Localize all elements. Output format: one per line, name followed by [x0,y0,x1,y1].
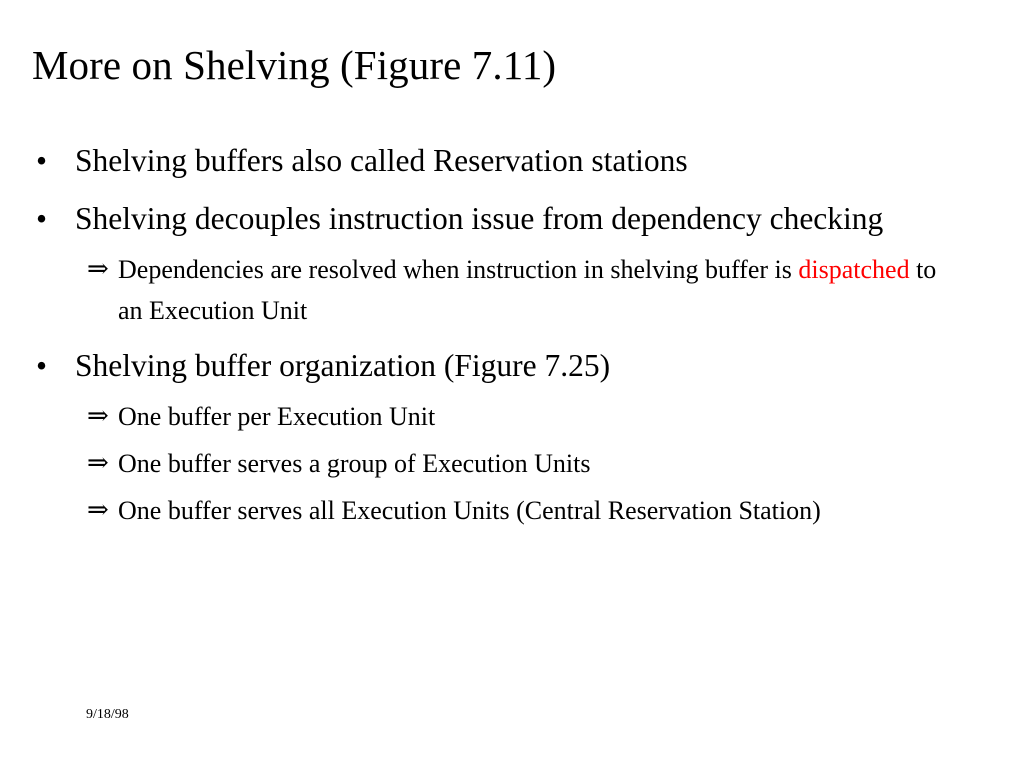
highlighted-term-dispatched: dispatched [798,255,909,284]
arrow-right-double-icon: ⇒ [87,490,109,531]
spacer [0,331,1024,341]
sub-bullet-item-3-3: ⇒ One buffer serves all Execution Units … [0,490,1024,531]
bullet-marker-icon: • [36,341,47,390]
bullet-marker-icon: • [36,194,47,243]
bullet-item-1: • Shelving buffers also called Reservati… [0,136,1024,185]
slide-title: More on Shelving (Figure 7.11) [32,41,992,89]
sub-bullet-item-3-1: ⇒ One buffer per Execution Unit [0,396,1024,437]
bullet-item-1-text: Shelving buffers also called Reservation… [75,136,963,185]
sub-bullet-item-3-2-text: One buffer serves a group of Execution U… [118,443,948,484]
sub-bullet-item-3-2: ⇒ One buffer serves a group of Execution… [0,443,1024,484]
bullet-marker-icon: • [36,136,47,185]
sub-bullet-item-3-1-text: One buffer per Execution Unit [118,396,948,437]
arrow-right-double-icon: ⇒ [87,396,109,437]
bullet-item-2-text: Shelving decouples instruction issue fro… [75,194,963,243]
arrow-right-double-icon: ⇒ [87,249,109,290]
slide-body: • Shelving buffers also called Reservati… [0,136,1024,531]
bullet-item-2: • Shelving decouples instruction issue f… [0,194,1024,243]
sub-bullet-item-2-1: ⇒ Dependencies are resolved when instruc… [0,249,1024,331]
bullet-item-3: • Shelving buffer organization (Figure 7… [0,341,1024,390]
bullet-item-3-text: Shelving buffer organization (Figure 7.2… [75,341,963,390]
sub-bullet-item-2-1-text: Dependencies are resolved when instructi… [118,249,948,331]
sub-bullet-item-3-3-text: One buffer serves all Execution Units (C… [118,490,948,531]
arrow-right-double-icon: ⇒ [87,443,109,484]
presentation-slide: More on Shelving (Figure 7.11) • Shelvin… [0,0,1024,768]
slide-footer-date: 9/18/98 [86,706,129,724]
spacer [0,185,1024,194]
sub-bullet-text-lead: Dependencies are resolved when instructi… [118,255,798,284]
